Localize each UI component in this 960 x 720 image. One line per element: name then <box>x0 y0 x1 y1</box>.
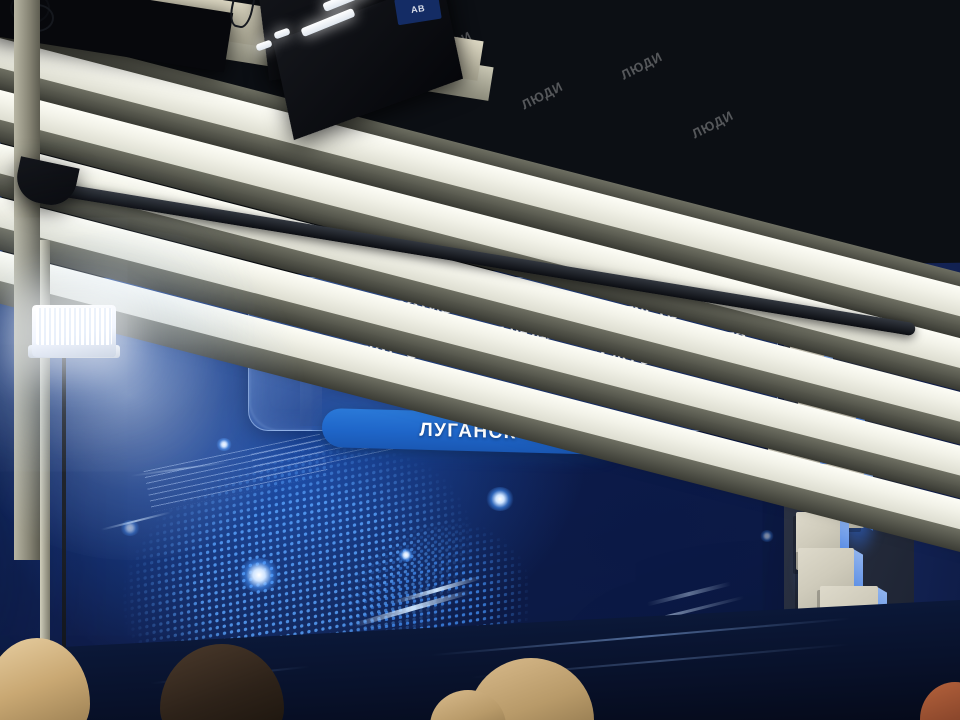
studio-scene: МЫ НЕ ПРОТИВ ПЕРЕМЕН, ТОЛЬКО ПУСТЬ ОТВЕТ… <box>0 0 960 720</box>
glow-point <box>486 487 514 511</box>
ceiling-watermark: ЛЮДИ <box>519 79 566 113</box>
glow-point <box>216 438 232 451</box>
glow-point <box>398 548 414 562</box>
ceiling-watermark: ЛЮДИ <box>618 49 665 83</box>
glow-point <box>238 558 280 592</box>
ceiling-watermark: ЛЮДИ <box>689 108 736 142</box>
vertical-truss <box>14 0 40 560</box>
glow-point <box>760 530 774 542</box>
studio-lamp-panel <box>32 305 116 357</box>
